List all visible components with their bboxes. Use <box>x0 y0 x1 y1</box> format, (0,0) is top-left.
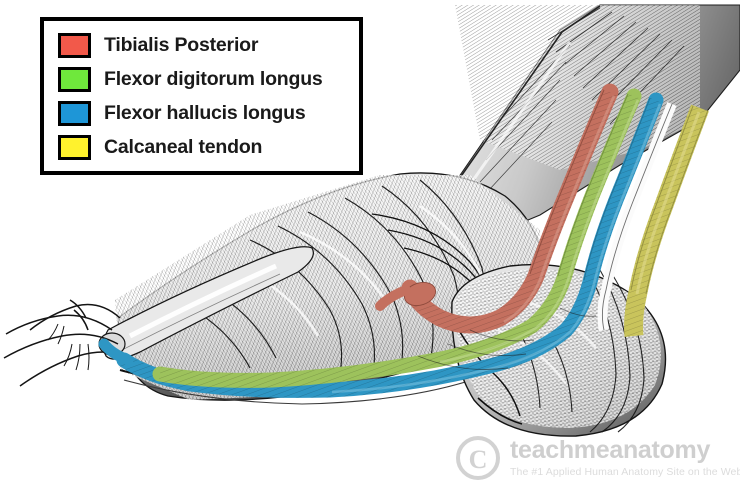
figure-canvas: Tibialis Posterior Flexor digitorum long… <box>0 0 740 492</box>
legend-label-calcaneal-tendon: Calcaneal tendon <box>104 136 262 159</box>
legend-swatch-calcaneal-tendon <box>58 135 91 160</box>
legend-item-flexor-digitorum-longus: Flexor digitorum longus <box>58 63 349 95</box>
legend-label-flexor-hallucis-longus: Flexor hallucis longus <box>104 102 305 125</box>
legend-item-tibialis-posterior: Tibialis Posterior <box>58 29 349 61</box>
legend-box: Tibialis Posterior Flexor digitorum long… <box>40 17 363 175</box>
legend-swatch-tibialis-posterior <box>58 33 91 58</box>
legend-label-flexor-digitorum-longus: Flexor digitorum longus <box>104 68 323 91</box>
legend-item-calcaneal-tendon: Calcaneal tendon <box>58 131 349 163</box>
legend-swatch-flexor-digitorum-longus <box>58 67 91 92</box>
legend-label-tibialis-posterior: Tibialis Posterior <box>104 34 258 57</box>
legend-item-flexor-hallucis-longus: Flexor hallucis longus <box>58 97 349 129</box>
legend-swatch-flexor-hallucis-longus <box>58 101 91 126</box>
